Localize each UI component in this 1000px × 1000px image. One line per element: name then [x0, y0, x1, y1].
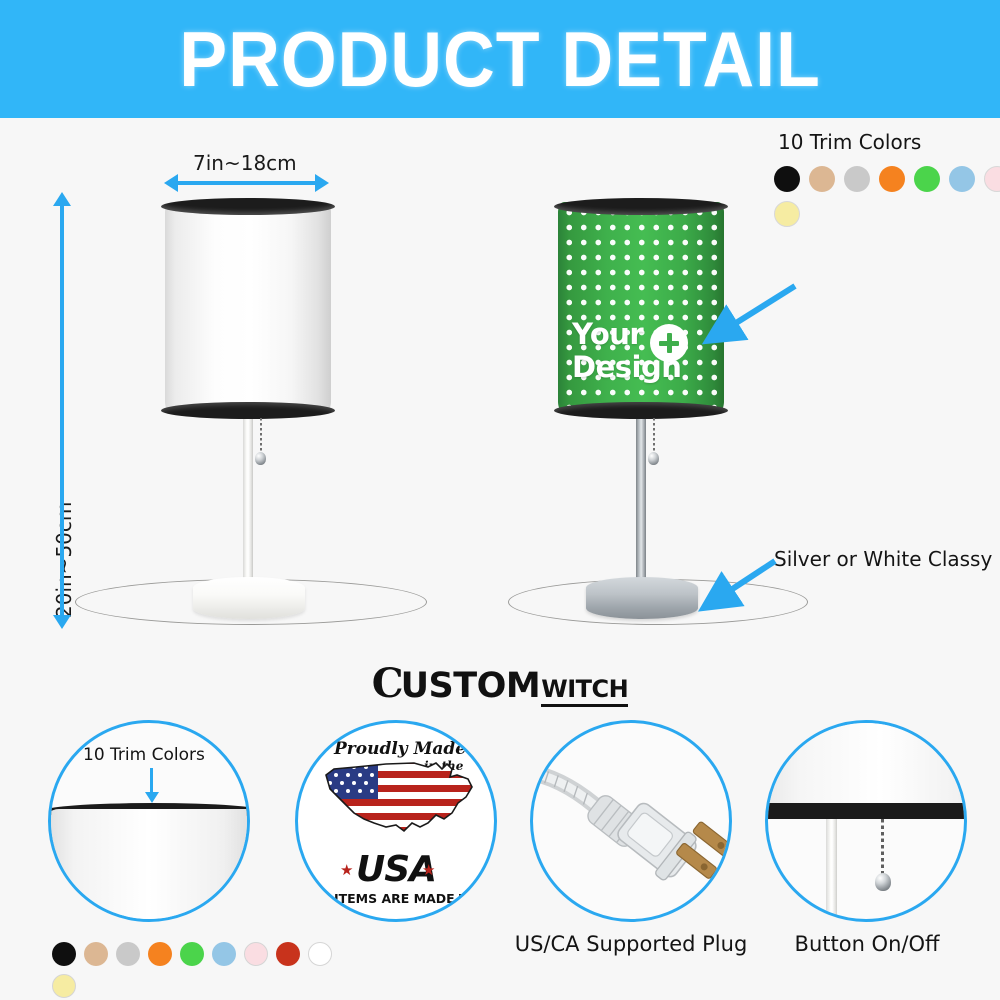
- width-dimension-line: [176, 181, 319, 185]
- shade-top-trim: [554, 198, 728, 215]
- width-arrow-left-icon: [164, 174, 178, 192]
- shade-surface: [165, 202, 331, 412]
- trim-swatch-tan[interactable]: [84, 942, 108, 966]
- usa-map-flag-icon: [316, 753, 484, 849]
- trim-swatch-yellow[interactable]: [774, 201, 800, 227]
- lamp-pole: [826, 819, 837, 922]
- trim-colors-circle-label: 10 Trim Colors: [83, 745, 205, 765]
- lamp-white: [160, 202, 340, 642]
- power-plug-icon: [533, 723, 729, 919]
- trim-swatch-row-primary: [774, 166, 1000, 192]
- trim-pointer-arrow-icon: [145, 792, 159, 803]
- trim-swatch-green[interactable]: [180, 942, 204, 966]
- height-dimension-label: 20in~50cm: [52, 502, 76, 618]
- trim-swatch-dark-red[interactable]: [276, 942, 300, 966]
- lamp-base: [193, 577, 305, 619]
- feature-panels: 10 Trim Colors Proudly Made in the: [0, 710, 1000, 1000]
- trim-swatch-orange[interactable]: [879, 166, 905, 192]
- logo-witch-text: WITCH: [541, 675, 628, 707]
- page-title: PRODUCT DETAIL: [40, 18, 960, 100]
- base-finish-pointer-arrow-icon: [690, 553, 800, 633]
- trim-swatch-gray[interactable]: [844, 166, 870, 192]
- plug-panel-caption: US/CA Supported Plug: [500, 932, 762, 956]
- pull-chain-bead[interactable]: [648, 452, 659, 465]
- trim-pointer-line: [150, 768, 153, 794]
- trim-swatch-white[interactable]: [308, 942, 332, 966]
- plug-detail-circle: [530, 720, 732, 922]
- pull-chain[interactable]: [881, 819, 884, 877]
- height-arrow-top-icon: [53, 192, 71, 206]
- brand-logo: C USTOM WITCH: [0, 660, 1000, 706]
- trim-swatch-pink[interactable]: [984, 166, 1000, 192]
- header-banner: PRODUCT DETAIL: [0, 0, 1000, 118]
- pull-chain-bead[interactable]: [255, 452, 266, 465]
- made-in-usa-circle: Proudly Made in the: [295, 720, 497, 922]
- bottom-swatch-row-primary: [52, 942, 332, 966]
- lamp-pole: [636, 416, 646, 602]
- logo-c-mark: C: [372, 660, 400, 707]
- shade-bottom-trim: [554, 402, 728, 419]
- pull-chain[interactable]: [653, 418, 655, 456]
- height-arrow-bottom-icon: [53, 615, 71, 629]
- pull-chain-bead[interactable]: [875, 873, 891, 891]
- plus-icon: [650, 324, 688, 362]
- shade-top-trim: [161, 198, 335, 215]
- trim-colors-detail-circle: 10 Trim Colors: [48, 720, 250, 922]
- usa-star-right-icon: ★: [422, 861, 435, 879]
- trim-colors-pointer-arrow-icon: [690, 278, 810, 358]
- width-dimension-label: 7in~18cm: [193, 151, 297, 175]
- shade-surface: [48, 809, 250, 922]
- trim-swatch-light-blue[interactable]: [949, 166, 975, 192]
- trim-swatch-black[interactable]: [774, 166, 800, 192]
- height-dimension-line: [60, 203, 64, 618]
- trim-swatch-row-secondary: [774, 201, 800, 227]
- button-panel-caption: Button On/Off: [742, 932, 992, 956]
- trim-swatch-orange[interactable]: [148, 942, 172, 966]
- trim-swatch-yellow[interactable]: [52, 974, 76, 998]
- logo-custom-text: USTOM: [401, 666, 541, 706]
- usa-subtitle: ALL ITEMS ARE MADE TO ORDER!: [304, 891, 497, 906]
- trim-swatch-light-blue[interactable]: [212, 942, 236, 966]
- base-finish-callout-label: Silver or White Classy: [774, 547, 992, 571]
- width-arrow-right-icon: [315, 174, 329, 192]
- shade-bottom-trim: [161, 402, 335, 419]
- trim-swatch-tan[interactable]: [809, 166, 835, 192]
- lamp-pole: [243, 416, 253, 602]
- lamp-base: [586, 577, 698, 619]
- button-detail-circle: [765, 720, 967, 922]
- usa-star-left-icon: ★: [340, 861, 353, 879]
- product-stage: 7in~18cm 20in~50cm Your Design: [0, 118, 1000, 718]
- trim-colors-heading: 10 Trim Colors: [778, 130, 921, 154]
- trim-swatch-pink[interactable]: [244, 942, 268, 966]
- trim-swatch-black[interactable]: [52, 942, 76, 966]
- shade-bottom-trim: [765, 803, 967, 819]
- trim-swatch-gray[interactable]: [116, 942, 140, 966]
- lamp-white-shade: [165, 202, 331, 412]
- shade-surface: [765, 720, 967, 805]
- pull-chain[interactable]: [260, 418, 262, 456]
- bottom-swatch-row-secondary: [52, 974, 76, 998]
- trim-colors-panel: 10 Trim Colors: [770, 118, 1000, 228]
- trim-swatch-green[interactable]: [914, 166, 940, 192]
